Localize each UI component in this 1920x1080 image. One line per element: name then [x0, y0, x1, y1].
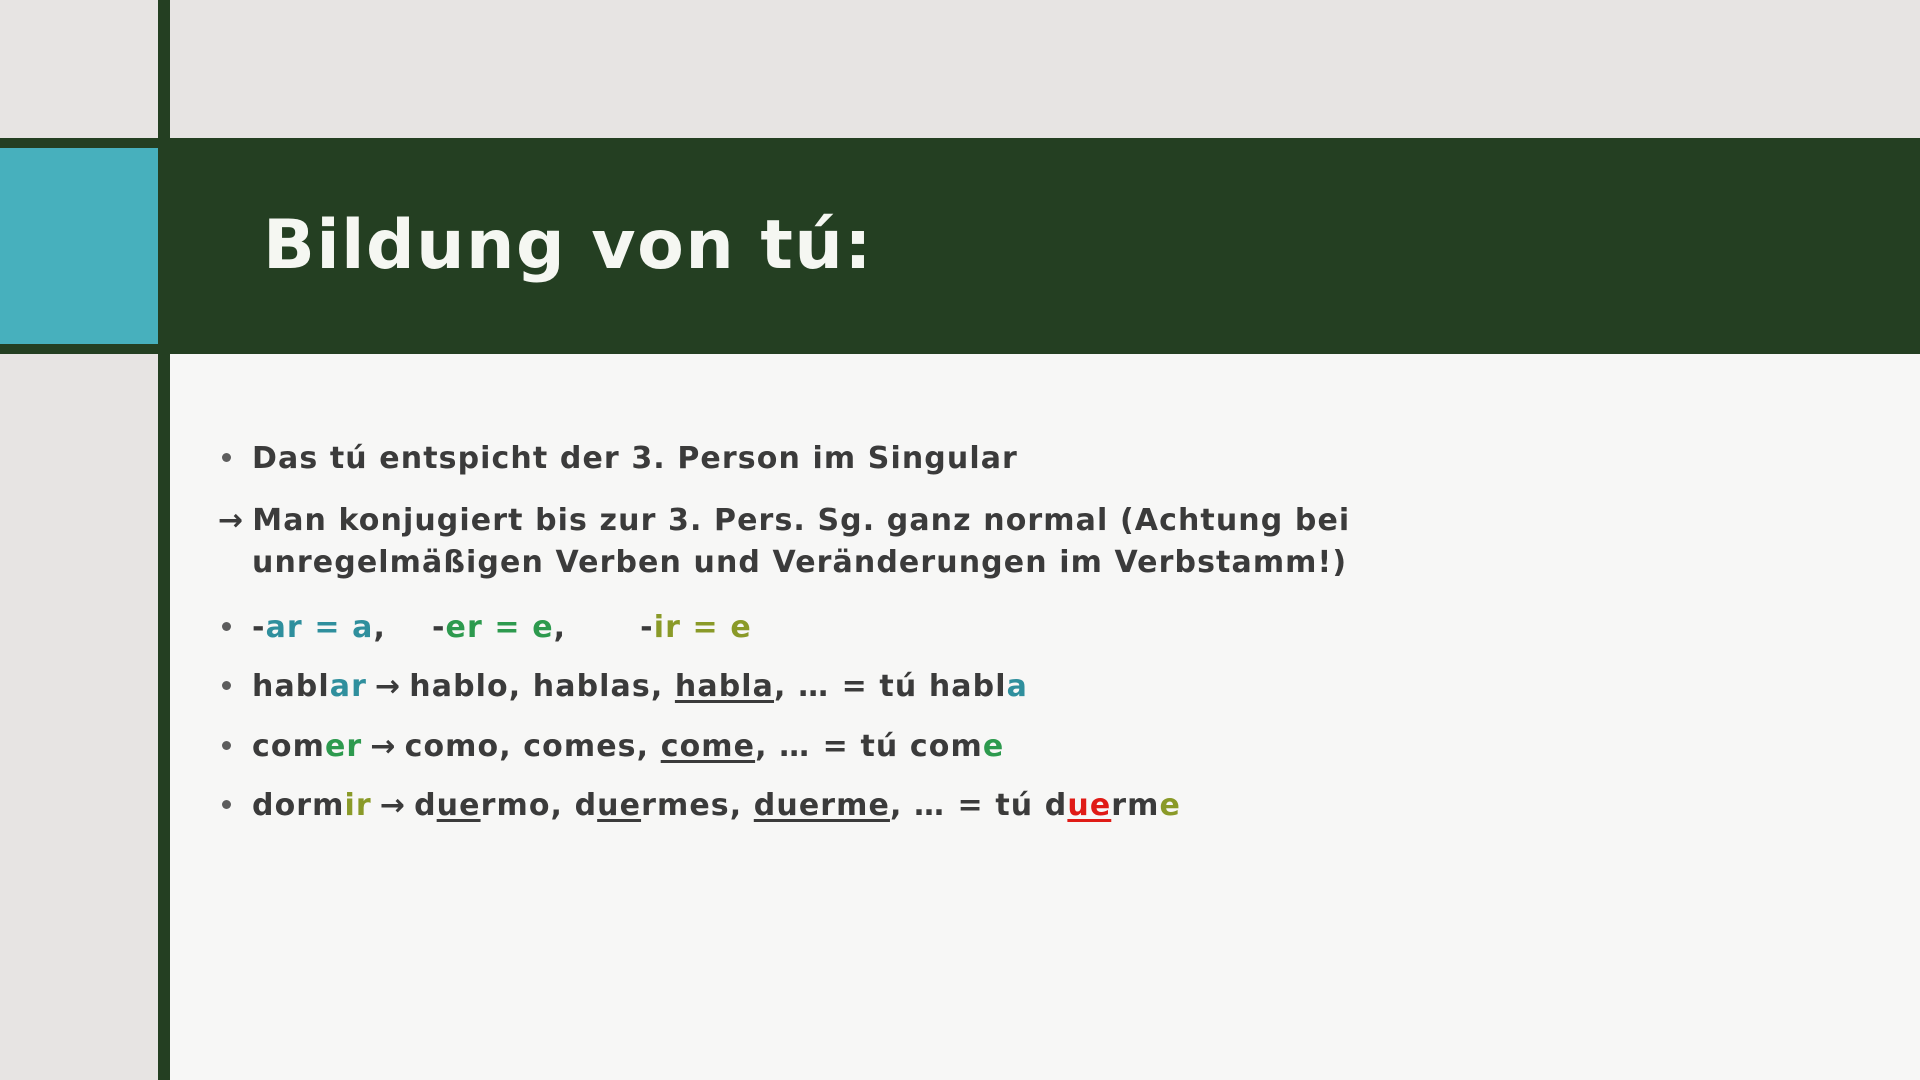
- comer-ending: er: [325, 729, 362, 764]
- ending-ir: ir = e: [654, 610, 752, 645]
- list-item: Das tú entspicht der 3. Person im Singul…: [200, 440, 1860, 478]
- ellipsis: …: [798, 669, 830, 704]
- ending-ar-hyphen: -: [252, 610, 266, 645]
- ellipsis: …: [779, 729, 811, 764]
- rule-sub-text: Man konjugiert bis zur 3. Pers. Sg. ganz…: [252, 503, 1350, 581]
- separator: ,: [730, 788, 754, 823]
- bullet-dot-icon: [222, 681, 231, 690]
- dormir-form-1-stem: ue: [437, 788, 481, 823]
- dormir-form-1-a: d: [414, 788, 437, 823]
- comer-result-stem: com: [910, 729, 983, 764]
- separator: ,: [651, 669, 675, 704]
- hablar-result-ending: a: [1007, 669, 1028, 704]
- sidebar: [0, 0, 158, 1080]
- sidebar-divider-bottom: [0, 344, 158, 354]
- dormir-result-c: rm: [1111, 788, 1159, 823]
- hablar-ending: ar: [330, 669, 367, 704]
- dormir-ending: ir: [345, 788, 372, 823]
- arrow-icon: →: [218, 503, 252, 538]
- equals: =: [811, 729, 860, 764]
- comer-form-1: como: [405, 729, 500, 764]
- list-item: comer→como, comes, come, … = tú come: [200, 728, 1860, 766]
- hablar-form-2: hablas: [533, 669, 651, 704]
- rule-main-text: Das tú entspicht der 3. Person im Singul…: [252, 441, 1018, 476]
- hablar-form-3: habla: [675, 669, 774, 704]
- separator: ,: [890, 788, 914, 823]
- comer-form-2: comes: [523, 729, 636, 764]
- hablar-form-1: hablo: [409, 669, 508, 704]
- ending-ar: ar = a: [266, 610, 374, 645]
- dormir-stem: dorm: [252, 788, 345, 823]
- separator: ,: [551, 788, 575, 823]
- ending-er-comma: ,: [554, 610, 567, 645]
- top-strip: [170, 0, 1920, 138]
- equals: =: [946, 788, 995, 823]
- separator: ,: [499, 729, 523, 764]
- dormir-result-stem-change: ue: [1067, 788, 1111, 823]
- arrow-icon: →: [367, 669, 409, 704]
- dormir-result-a: d: [1045, 788, 1068, 823]
- slide-body: Das tú entspicht der 3. Person im Singul…: [170, 354, 1920, 1080]
- bullet-dot-icon: [222, 453, 231, 462]
- equals: =: [830, 669, 879, 704]
- comer-result-pronoun: tú: [860, 729, 909, 764]
- dormir-result-pronoun: tú: [995, 788, 1044, 823]
- hablar-result-pronoun: tú: [879, 669, 928, 704]
- title-banner: Bildung von tú:: [170, 138, 1920, 354]
- sidebar-divider-top: [0, 138, 158, 148]
- separator: ,: [774, 669, 798, 704]
- bullet-dot-icon: [222, 741, 231, 750]
- list-item: dormir→duermo, duermes, duerme, … = tú d…: [200, 787, 1860, 825]
- arrow-icon: →: [362, 729, 404, 764]
- dormir-form-2-stem: ue: [597, 788, 641, 823]
- ending-er: er = e: [446, 610, 554, 645]
- vertical-divider: [158, 0, 170, 1080]
- dormir-form-1-b: rmo: [481, 788, 551, 823]
- hablar-stem: habl: [252, 669, 330, 704]
- separator: ,: [637, 729, 661, 764]
- dormir-result-ending: e: [1160, 788, 1181, 823]
- ending-ir-hyphen: -: [640, 610, 654, 645]
- dormir-form-2-b: rmes: [641, 788, 730, 823]
- dormir-form-2-a: d: [575, 788, 598, 823]
- page-title: Bildung von tú:: [263, 209, 873, 284]
- slide: Bildung von tú: Das tú entspicht der 3. …: [0, 0, 1920, 1080]
- list-item: -ar = a,-er = e,-ir = e: [200, 609, 1860, 647]
- separator: ,: [755, 729, 779, 764]
- ending-ar-comma: ,: [373, 610, 386, 645]
- hablar-result-stem: habl: [929, 669, 1007, 704]
- bullet-list: Das tú entspicht der 3. Person im Singul…: [200, 440, 1860, 825]
- comer-result-ending: e: [983, 729, 1004, 764]
- bullet-dot-icon: [222, 622, 231, 631]
- arrow-icon: →: [372, 788, 414, 823]
- comer-stem: com: [252, 729, 325, 764]
- bullet-dot-icon: [222, 800, 231, 809]
- rule-sub-line: →Man konjugiert bis zur 3. Pers. Sg. gan…: [200, 500, 1482, 585]
- dormir-form-3: duerme: [754, 788, 890, 823]
- ending-er-hyphen: -: [432, 610, 446, 645]
- sidebar-accent-block: [0, 148, 158, 344]
- separator: ,: [509, 669, 533, 704]
- comer-form-3: come: [661, 729, 755, 764]
- list-item: hablar→hablo, hablas, habla, … = tú habl…: [200, 668, 1860, 706]
- ellipsis: …: [914, 788, 946, 823]
